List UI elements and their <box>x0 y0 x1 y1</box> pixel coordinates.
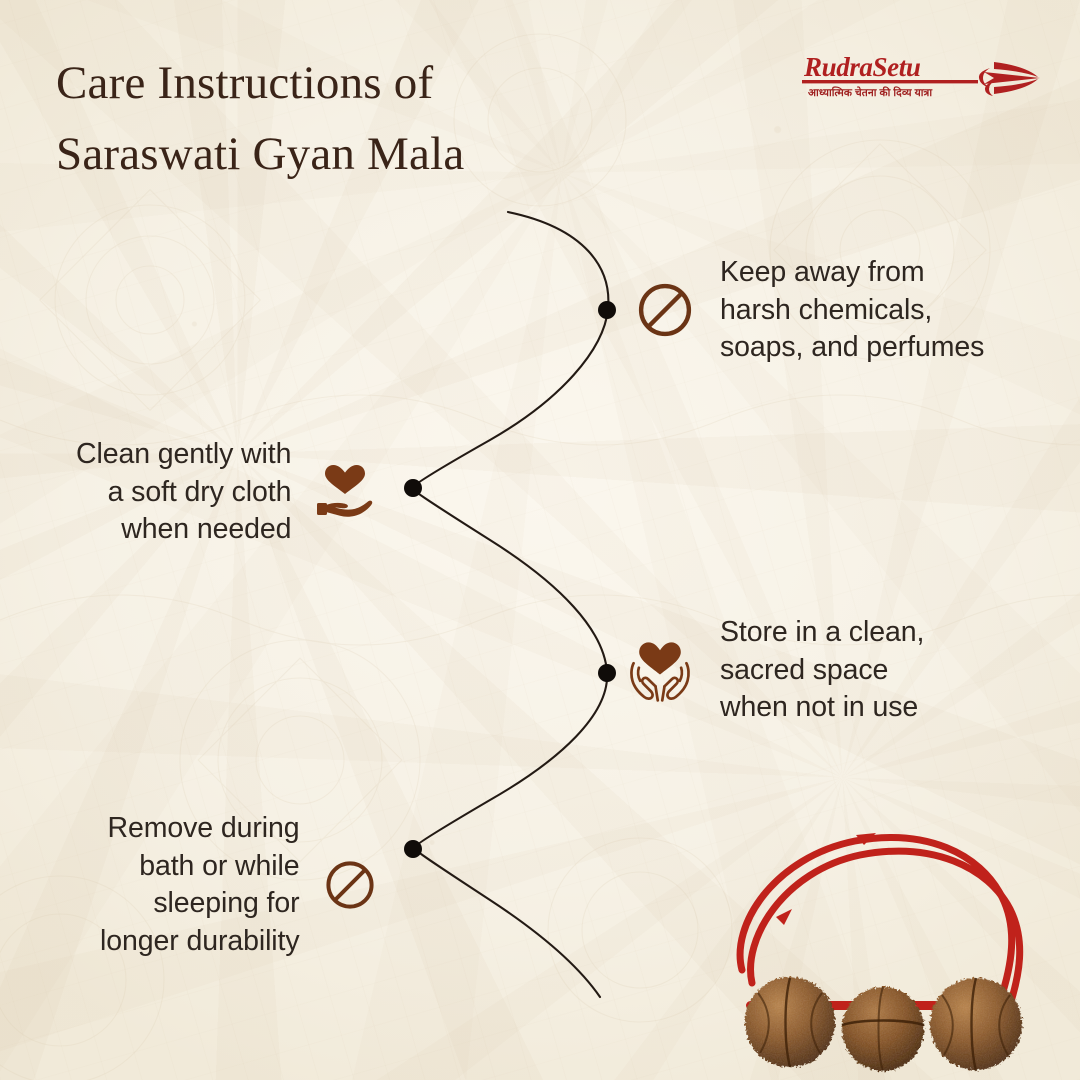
hand-holding-heart-icon <box>313 460 377 524</box>
care-step-1-text: Keep away from harsh chemicals, soaps, a… <box>720 254 984 367</box>
rudraksha-bead <box>745 977 835 1067</box>
brand-tagline: आध्यात्मिक चेतना की दिव्य यात्रा <box>808 86 933 99</box>
curve-node-2 <box>404 479 422 497</box>
page-title-line1: Care Instructions of <box>56 48 676 119</box>
cord-knot-left <box>792 998 808 1014</box>
bracelet-cord-tips <box>776 833 876 925</box>
bracelet-cord <box>740 838 1020 1011</box>
rudraksha-bracelet-photo <box>680 805 1080 1080</box>
care-step-4-text: Remove during bath or while sleeping for… <box>100 810 300 960</box>
care-step-3-text: Store in a clean, sacred space when not … <box>720 614 924 727</box>
brand-name: RudraSetu <box>803 52 921 82</box>
logo-underline <box>802 80 978 83</box>
bracelet-cord-center <box>746 1001 1016 1010</box>
trishul-icon <box>979 62 1040 96</box>
care-step-1: Keep away from harsh chemicals, soaps, a… <box>634 254 984 367</box>
care-step-2-text: Clean gently with a soft dry cloth when … <box>76 436 291 549</box>
care-step-3: Store in a clean, sacred space when not … <box>624 614 924 727</box>
cord-knot-right <box>958 998 974 1014</box>
curve-node-3 <box>598 664 616 682</box>
rudraksha-bead <box>930 978 1022 1071</box>
brand-logo[interactable]: RudraSetu आध्यात्मिक चेतना की दिव्य यात्… <box>794 48 1044 110</box>
curve-node-4 <box>404 840 422 858</box>
care-step-2: Clean gently with a soft dry cloth when … <box>76 436 377 549</box>
no-entry-icon <box>322 857 378 913</box>
page-title: Care Instructions of Saraswati Gyan Mala <box>56 48 676 189</box>
care-step-4: Remove during bath or while sleeping for… <box>100 810 378 960</box>
two-hands-heart-icon <box>624 634 696 706</box>
rudraksha-bead <box>842 987 924 1071</box>
curve-node-1 <box>598 301 616 319</box>
page-title-line2: Saraswati Gyan Mala <box>56 119 676 190</box>
curve-path <box>412 212 608 997</box>
no-entry-icon <box>634 279 696 341</box>
